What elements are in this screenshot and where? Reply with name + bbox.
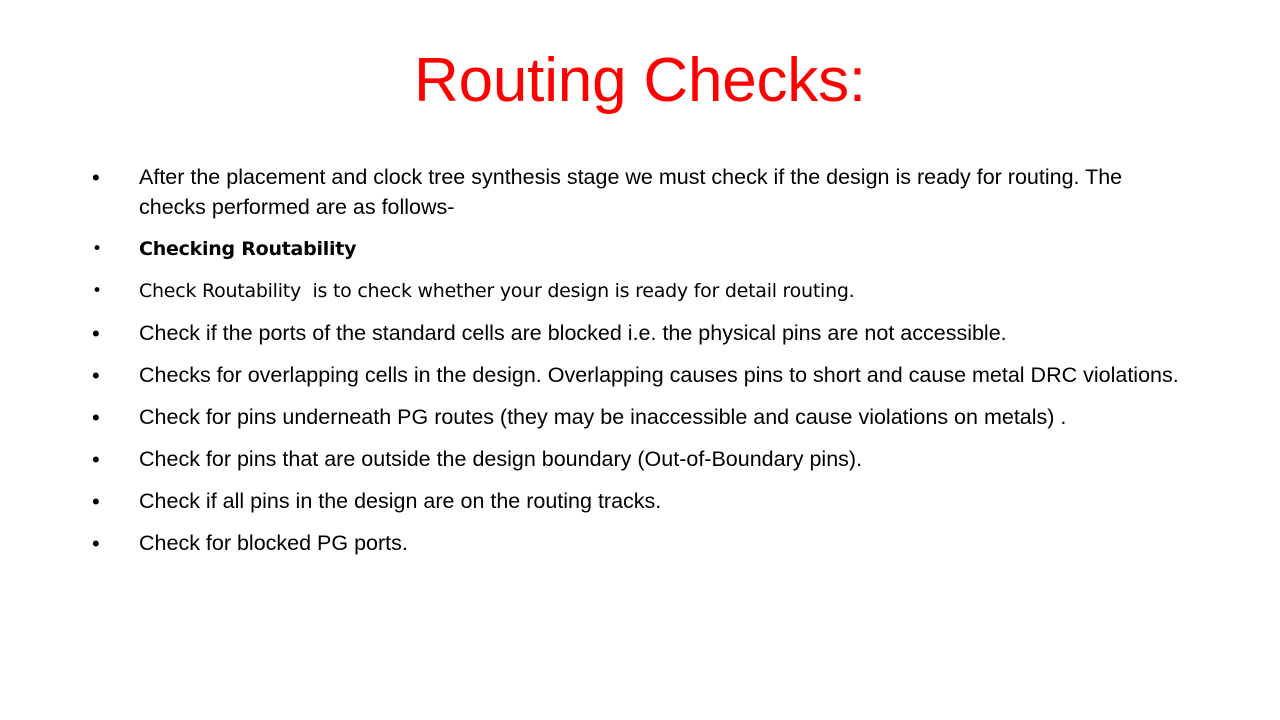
list-item: •Check for blocked PG ports. [88,528,1180,558]
bullet-point-icon: • [92,234,110,265]
list-item: •Check if the ports of the standard cell… [88,318,1180,348]
bullet-point-icon: • [92,276,110,307]
list-item-text: After the placement and clock tree synth… [139,162,1180,222]
list-item: •Checking Routability [88,234,1180,264]
list-item-text: Check for blocked PG ports. [139,528,1180,558]
list-item-text: Checks for overlapping cells in the desi… [139,360,1180,390]
list-item: •Check for pins underneath PG routes (th… [88,402,1180,432]
list-item: •Checks for overlapping cells in the des… [88,360,1180,390]
list-item-text: Check Routability is to check whether yo… [139,276,1180,306]
bullet-point-icon: • [92,528,110,559]
list-item: •Check if all pins in the design are on … [88,486,1180,516]
list-item-text: Check for pins that are outside the desi… [139,444,1180,474]
bullet-list: •After the placement and clock tree synt… [88,162,1180,570]
bullet-point-icon: • [92,486,110,517]
list-item-text: Check for pins underneath PG routes (the… [139,402,1180,432]
bullet-point-icon: • [92,402,110,433]
bullet-point-icon: • [92,360,110,391]
list-item: •Check Routability is to check whether y… [88,276,1180,306]
list-item-text: Check if all pins in the design are on t… [139,486,1180,516]
list-item-text: Check if the ports of the standard cells… [139,318,1180,348]
presentation-slide: Routing Checks: •After the placement and… [0,0,1280,720]
bullet-point-icon: • [92,444,110,475]
slide-title: Routing Checks: [0,48,1280,113]
bullet-point-icon: • [92,318,110,349]
bullet-point-icon: • [92,162,110,193]
list-item: •Check for pins that are outside the des… [88,444,1180,474]
list-item-text: Checking Routability [139,234,1180,264]
list-item: •After the placement and clock tree synt… [88,162,1180,222]
